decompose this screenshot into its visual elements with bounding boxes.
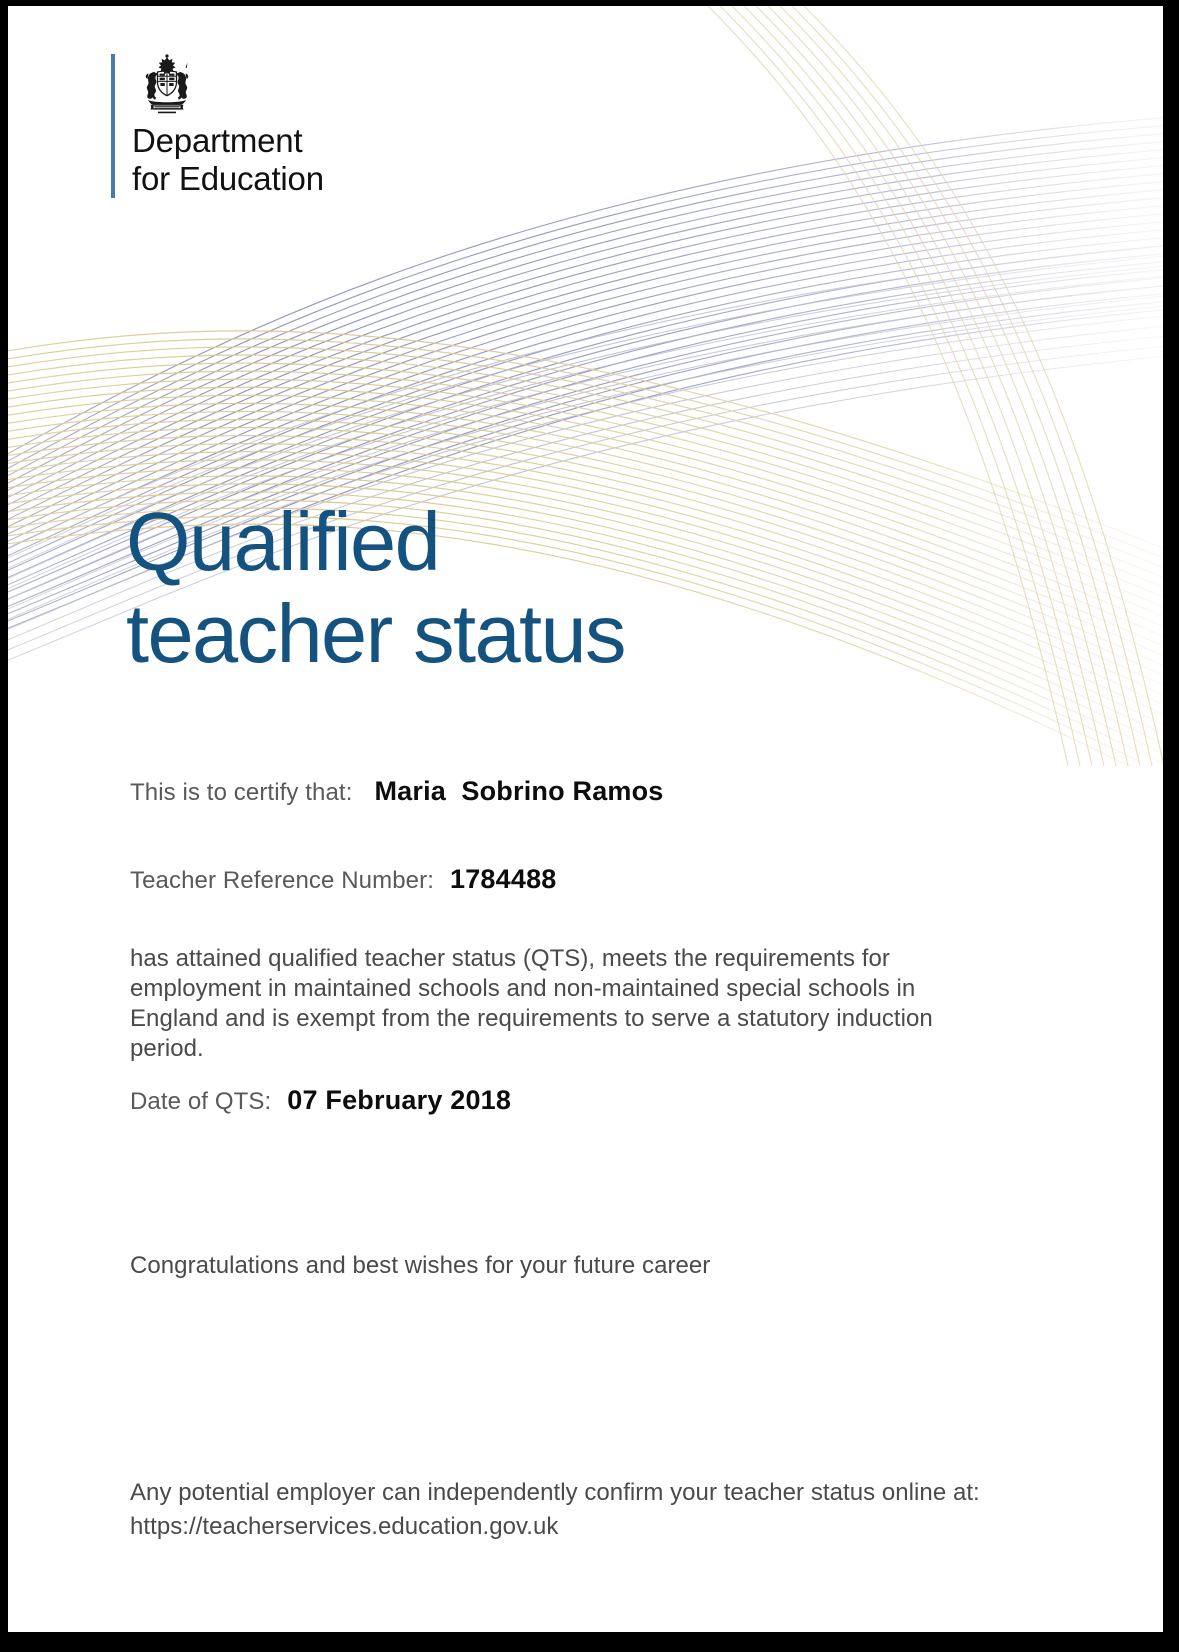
page-title-line1: Qualified	[126, 495, 439, 588]
congratulations-text: Congratulations and best wishes for your…	[130, 1252, 710, 1280]
trn-value: 1784488	[450, 864, 557, 895]
royal-coat-of-arms-icon	[134, 54, 200, 116]
dfe-logo-text: Department for Education	[132, 122, 324, 198]
recipient-name: Maria Sobrino Ramos	[374, 776, 663, 807]
certificate-page: Department for Education Qualified teach…	[8, 6, 1163, 1632]
teacher-reference-number-row: Teacher Reference Number: 1784488	[130, 864, 557, 895]
footer-url: https://teacherservices.education.gov.uk	[130, 1510, 980, 1544]
logo-vertical-rule	[111, 54, 115, 198]
footer-verification-note: Any potential employer can independently…	[130, 1476, 980, 1544]
footer-line1: Any potential employer can independently…	[130, 1476, 980, 1510]
qts-date-row: Date of QTS: 07 February 2018	[130, 1085, 511, 1116]
certify-row: This is to certify that: Maria Sobrino R…	[130, 776, 664, 807]
trn-label: Teacher Reference Number:	[130, 867, 434, 895]
page-title-line2: teacher status	[126, 587, 625, 680]
dfe-logo-line2: for Education	[132, 160, 324, 197]
dfe-logo-line1: Department	[132, 122, 302, 159]
qts-date-value: 07 February 2018	[287, 1085, 511, 1116]
dfe-logo: Department for Education	[111, 54, 324, 198]
qts-date-label: Date of QTS:	[130, 1088, 271, 1116]
certify-label: This is to certify that:	[130, 779, 352, 807]
page-title: Qualified teacher status	[126, 496, 625, 680]
body-paragraph: has attained qualified teacher status (Q…	[130, 944, 1010, 1064]
